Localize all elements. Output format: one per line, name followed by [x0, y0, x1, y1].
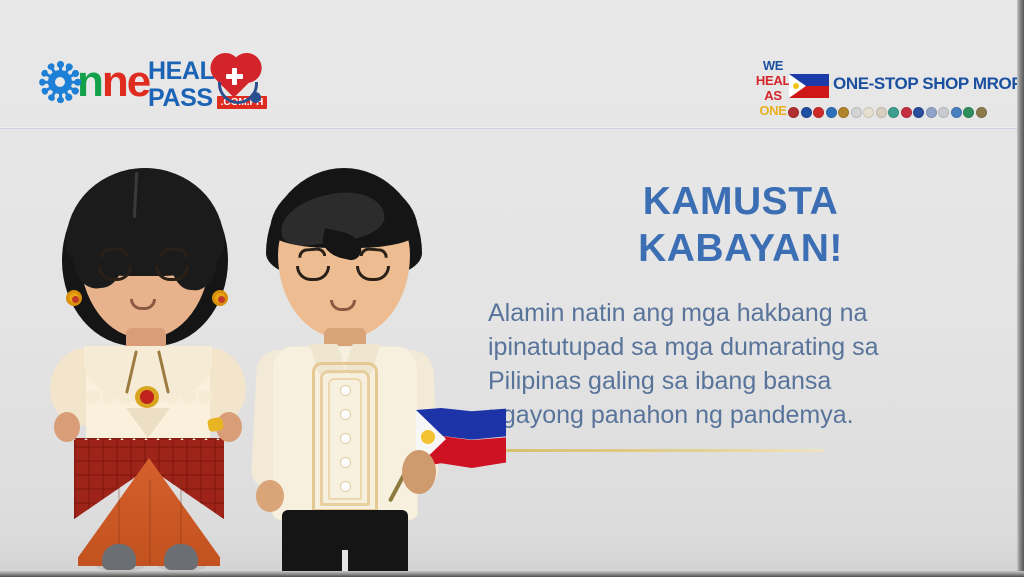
one-stop-shop-title: ONE-STOP SHOP MROF	[833, 74, 1021, 94]
agency-seal-7	[863, 107, 874, 118]
body-line-4: ngayong panahon ng pandemya.	[488, 398, 993, 432]
agency-seal-5	[838, 107, 849, 118]
campaign-line-heal: HEAL	[752, 73, 794, 88]
gold-divider	[506, 449, 824, 452]
body-paragraph: Alamin natin ang mga hakbang na ipinatut…	[488, 296, 993, 432]
illustration-group	[40, 150, 480, 570]
body-line-1: Alamin natin ang mga hakbang na	[488, 296, 993, 330]
agency-seal-8	[876, 107, 887, 118]
body-line-2: ipinatutupad sa mga dumarating sa	[488, 330, 993, 364]
campaign-line-we: WE	[752, 58, 794, 73]
man-hand-right-holding-flag	[402, 450, 436, 494]
woman-shoe-left	[102, 544, 136, 570]
page-title: KAMUSTA KABAYAN!	[488, 178, 993, 272]
man-hand-left	[256, 480, 284, 512]
body-line-3: Pilipinas galing sa ibang bansa	[488, 364, 993, 398]
woman-collar-point	[126, 408, 170, 438]
woman-earring-right	[212, 290, 228, 306]
woman-pendant	[135, 386, 159, 408]
agency-seal-4	[826, 107, 837, 118]
woman-hand-left	[54, 412, 80, 442]
logo-text-pass: PASS	[148, 85, 213, 112]
slide-header: nne HEALTH PASS .COM.PH WE HEAL AS	[0, 0, 1017, 128]
title-line-2: KABAYAN!	[488, 225, 993, 272]
flag-sun-icon	[421, 430, 435, 444]
message-panel: KAMUSTA KABAYAN! Alamin natin ang mga ha…	[488, 178, 993, 452]
agency-seal-10	[901, 107, 912, 118]
frame-edge-right	[1017, 0, 1024, 577]
coronavirus-icon	[40, 62, 80, 102]
figure-woman	[50, 160, 250, 570]
agency-seal-11	[913, 107, 924, 118]
agency-seal-9	[888, 107, 899, 118]
heart-stethoscope-icon	[216, 60, 262, 104]
agency-seal-13	[938, 107, 949, 118]
woman-eyebrow-left	[100, 247, 129, 258]
philippine-flag-icon	[789, 74, 829, 98]
one-health-pass-logo[interactable]: nne HEALTH PASS .COM.PH	[40, 58, 290, 118]
campaign-line-as: AS	[752, 88, 794, 103]
agency-seal-6	[851, 107, 862, 118]
woman-earring-left	[66, 290, 82, 306]
agency-seals-row	[788, 104, 974, 121]
agency-seal-12	[926, 107, 937, 118]
agency-seal-1	[788, 107, 799, 118]
title-line-1: KAMUSTA	[488, 178, 993, 225]
man-eyebrow-left	[298, 247, 327, 258]
agency-seal-15	[963, 107, 974, 118]
agency-seal-16	[976, 107, 987, 118]
agency-seal-14	[951, 107, 962, 118]
slide-canvas: nne HEALTH PASS .COM.PH WE HEAL AS	[0, 0, 1024, 577]
frame-edge-bottom	[0, 571, 1024, 577]
logo-wordmark-one: nne	[40, 62, 149, 102]
logo-text-ne: nne	[77, 63, 149, 101]
agency-seal-2	[801, 107, 812, 118]
agency-seal-3	[813, 107, 824, 118]
figure-man	[252, 150, 482, 570]
woman-shoe-right	[164, 544, 198, 570]
header-divider	[0, 127, 1017, 130]
